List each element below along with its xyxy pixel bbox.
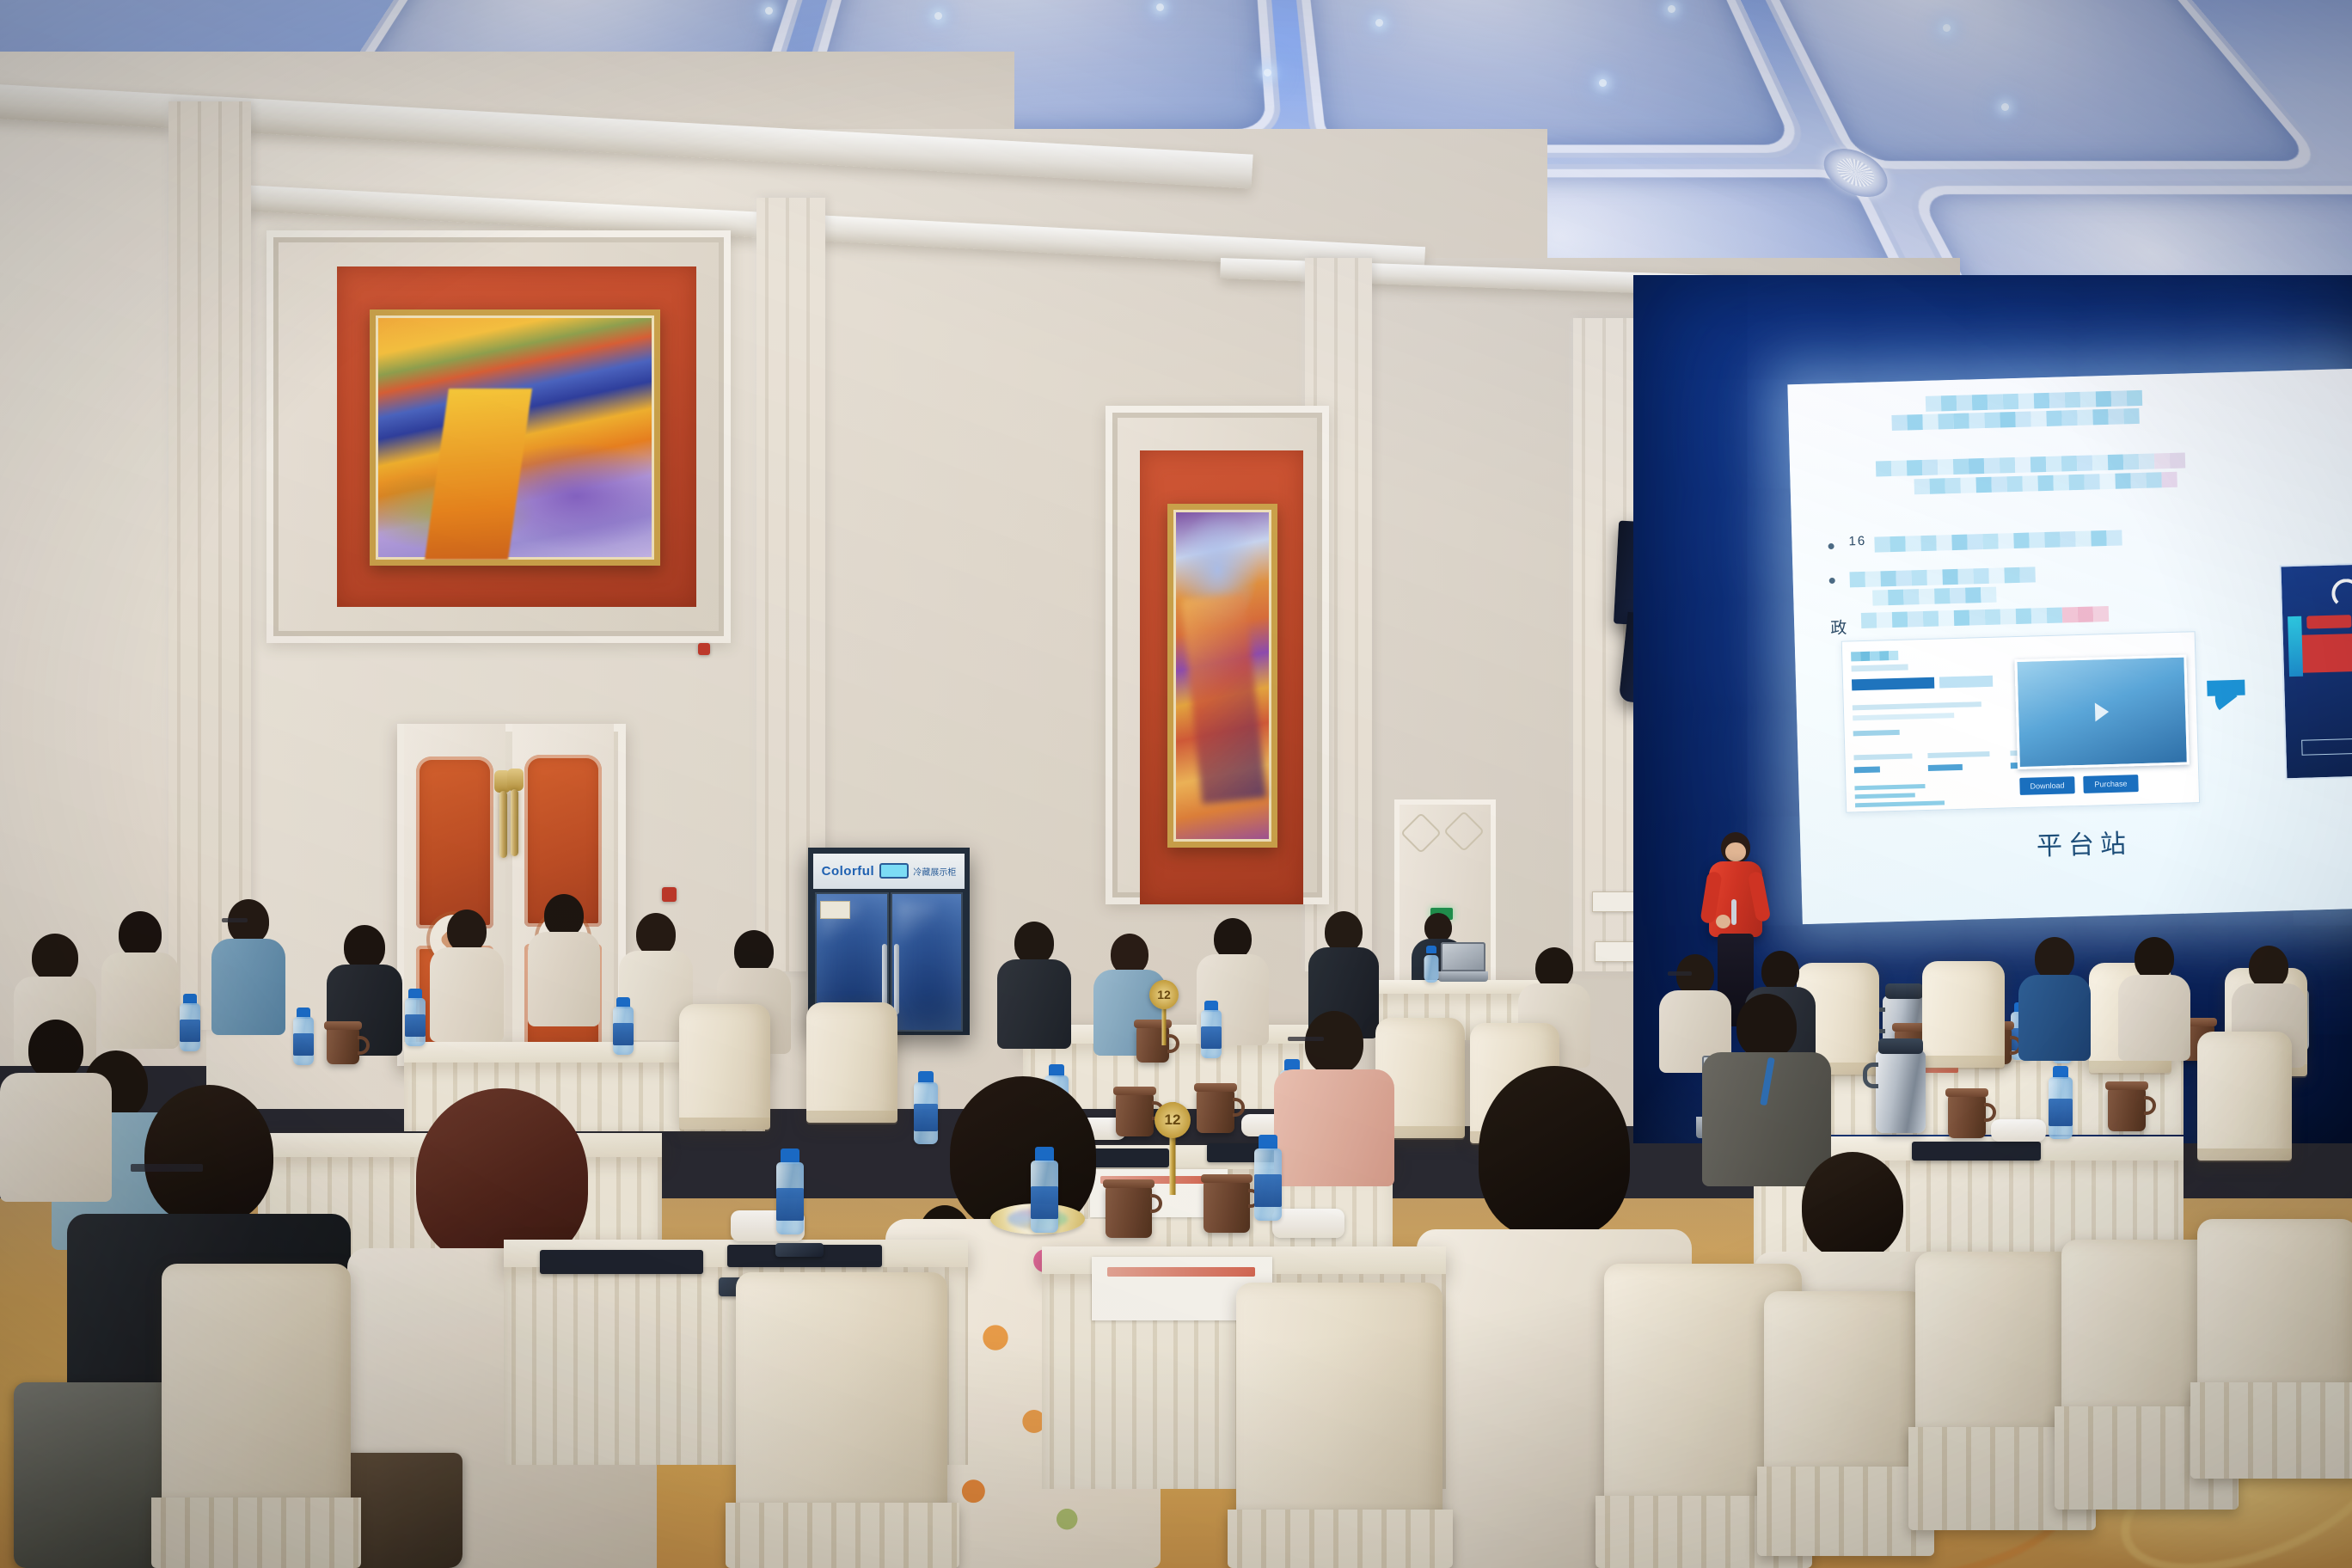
- av-laptop: [1441, 942, 1485, 982]
- artwork-abstract-landscape: [370, 309, 660, 566]
- cooler-header-band: Colorful 冷藏展示柜: [813, 854, 965, 889]
- ceiling-downlight: [934, 12, 942, 20]
- banquet-chair-skirt: [2190, 1382, 2352, 1479]
- slide-title-blurred: [1926, 390, 2143, 430]
- slide-red-chip: [2306, 615, 2351, 628]
- banquet-chair: [1922, 961, 2005, 1068]
- slide-red-banner: [2299, 633, 2352, 673]
- ceiling-downlight: [1375, 19, 1383, 27]
- presenter-face: [1725, 842, 1746, 861]
- table-number-stand: 12: [1154, 1102, 1191, 1195]
- water-bottle: [1200, 1001, 1222, 1059]
- table-number-stand: 12: [1148, 980, 1179, 1045]
- attendee-back-9: [997, 922, 1071, 1047]
- water-bottle: [1253, 1135, 1283, 1221]
- ceramic-tea-mug: [1197, 1090, 1234, 1133]
- slide-purchase-button[interactable]: Purchase: [2083, 775, 2139, 793]
- fire-alarm-plate: [662, 887, 677, 902]
- rolled-towel: [1991, 1119, 2046, 1142]
- attendee-back-17: [2118, 937, 2190, 1059]
- banquet-chair-skirt: [151, 1498, 361, 1568]
- av-operator-head: [1424, 913, 1452, 942]
- cooler-handle-right[interactable]: [894, 944, 899, 1014]
- handheld-microphone: [1731, 899, 1736, 925]
- slide-subtitle-blurred: [1876, 452, 2186, 495]
- water-bottle: [292, 1008, 315, 1066]
- placemat: [540, 1250, 703, 1274]
- table-number: 12: [1149, 980, 1179, 1009]
- water-bottle: [404, 989, 426, 1047]
- attendee-back-5: [430, 910, 504, 1040]
- ceiling-downlight: [1264, 69, 1271, 77]
- slide-bullet-1: [1828, 543, 1834, 549]
- ceiling-downlight: [1156, 3, 1164, 11]
- rolled-towel: [1272, 1209, 1344, 1238]
- slide-mobile-tile: [2279, 562, 2352, 781]
- attendee-back-6: [528, 894, 600, 1025]
- ceramic-tea-mug: [1106, 1186, 1152, 1238]
- ceramic-tea-mug: [1948, 1095, 1986, 1138]
- banquet-chair: [2197, 1219, 2352, 1410]
- water-bottle: [612, 997, 634, 1056]
- water-bottle: [179, 994, 201, 1052]
- slide-side-label-zheng: 政: [1830, 615, 1849, 639]
- handout-red: [1107, 1267, 1255, 1277]
- ceramic-tea-mug: [327, 1028, 359, 1064]
- cooler-door-right[interactable]: [891, 892, 964, 1031]
- ceiling-downlight: [1668, 5, 1675, 13]
- banquet-chair: [806, 1002, 897, 1123]
- cooler-spec-label: [820, 901, 850, 918]
- slide-bullet-2-blurred: [1849, 567, 2036, 606]
- slide-bullet-1-blurred: [1874, 530, 2122, 553]
- banquet-chair-skirt: [726, 1503, 959, 1568]
- projection-screen: 16 政: [1787, 369, 2352, 924]
- attendee-pink-shirt: [1274, 1011, 1394, 1183]
- ceiling-downlight: [2001, 103, 2009, 111]
- ceiling-downlight: [765, 7, 773, 15]
- banquet-chair: [679, 1004, 770, 1130]
- attendee-back-2: [101, 911, 179, 1049]
- slide-content-card: Download Purchase: [1841, 631, 2200, 812]
- table-number: 12: [1155, 1102, 1191, 1138]
- ceramic-tea-mug: [1204, 1181, 1250, 1233]
- ceramic-tea-mug: [2108, 1088, 2146, 1131]
- presentation-slide: 16 政: [1787, 369, 2352, 924]
- conference-hall-photo: Colorful 冷藏展示柜: [0, 0, 2352, 1568]
- artwork-abstract-vertical: [1167, 504, 1277, 848]
- thermos-carafe: [1876, 1050, 1926, 1133]
- ceiling-downlight: [1943, 24, 1951, 32]
- banquet-chair-skirt: [1228, 1510, 1453, 1568]
- cooler-brand-text: Colorful: [822, 864, 875, 879]
- slide-flow-arrow: [2207, 680, 2245, 696]
- ceiling-downlight: [1599, 79, 1607, 87]
- eyeglasses: [131, 1164, 203, 1172]
- smartphone: [775, 1243, 824, 1257]
- slide-download-button[interactable]: Download: [2019, 776, 2075, 795]
- slide-side-label-16: 16: [1848, 534, 1866, 549]
- slide-caption: 平台站: [1800, 816, 2352, 869]
- cooler-subtext: 冷藏展示柜: [913, 865, 956, 878]
- door-handle-right[interactable]: [507, 769, 524, 791]
- water-bottle: [1030, 1147, 1059, 1233]
- pilaster-left: [168, 101, 251, 1030]
- banquet-chair: [2197, 1032, 2292, 1161]
- slide-bullet-2: [1829, 578, 1835, 584]
- slide-video-thumbnail: [2014, 655, 2189, 770]
- presenter-hand: [1716, 915, 1730, 928]
- attendee-back-3: [211, 899, 285, 1035]
- cooler-display-badge: [879, 863, 909, 879]
- water-bottle: [775, 1148, 805, 1234]
- wifi-icon: [2331, 579, 2352, 609]
- water-bottle: [1423, 946, 1440, 982]
- slide-line-blurred: [1861, 606, 2109, 628]
- water-bottle: [2048, 1066, 2073, 1140]
- attendee-back-16: [2018, 937, 2091, 1059]
- fire-alarm-plate: [698, 643, 710, 655]
